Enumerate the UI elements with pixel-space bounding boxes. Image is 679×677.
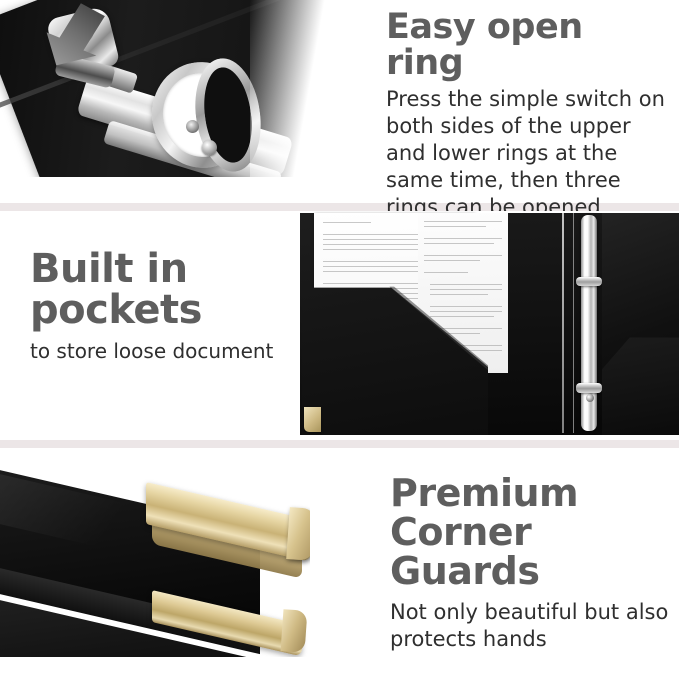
headline-built-in-pockets: Built in pockets (30, 249, 278, 331)
text-block-corner-guards: Premium Corner Guards Not only beautiful… (380, 448, 679, 677)
ring-mechanism-photo (0, 0, 370, 203)
body-corner-guards: Not only beautiful but also protects han… (390, 599, 669, 653)
photo-fade-right (250, 0, 370, 203)
row-divider-2 (0, 440, 679, 448)
corner-guards-photo (0, 448, 380, 677)
text-block-easy-open-ring: Easy open ring Press the simple switch o… (370, 0, 679, 203)
rivet-screw-lower (202, 140, 217, 155)
gold-corner-guard-small (304, 407, 321, 432)
up-arrow-icon (41, 0, 115, 68)
rivet-screw-upper (186, 120, 199, 133)
body-built-in-pockets: to store loose document (30, 339, 278, 365)
product-feature-infographic: Easy open ring Press the simple switch o… (0, 0, 679, 661)
headline-corner-guards: Premium Corner Guards (390, 474, 669, 590)
open-binder-photo (290, 211, 679, 440)
ring-collar-upper (576, 277, 602, 286)
ring-collar-lower (576, 383, 602, 393)
corner-guard-lower-cap (281, 609, 308, 653)
feature-row-corner-guards: Premium Corner Guards Not only beautiful… (0, 448, 679, 677)
ring-collar-screw (586, 394, 594, 402)
text-block-built-in-pockets: Built in pockets to store loose document (0, 211, 290, 440)
photo-fade-right-3 (310, 448, 380, 677)
photo-fade-bottom (0, 177, 370, 203)
headline-easy-open-ring: Easy open ring (386, 10, 665, 81)
binder-spine-line-2 (573, 213, 574, 433)
feature-row-built-in-pockets: Built in pockets to store loose document (0, 211, 679, 440)
binder-spine-line-1 (562, 213, 564, 433)
photo-fade-bottom-3 (0, 657, 380, 677)
feature-row-easy-open-ring: Easy open ring Press the simple switch o… (0, 0, 679, 203)
body-easy-open-ring: Press the simple switch on both sides of… (386, 86, 665, 220)
